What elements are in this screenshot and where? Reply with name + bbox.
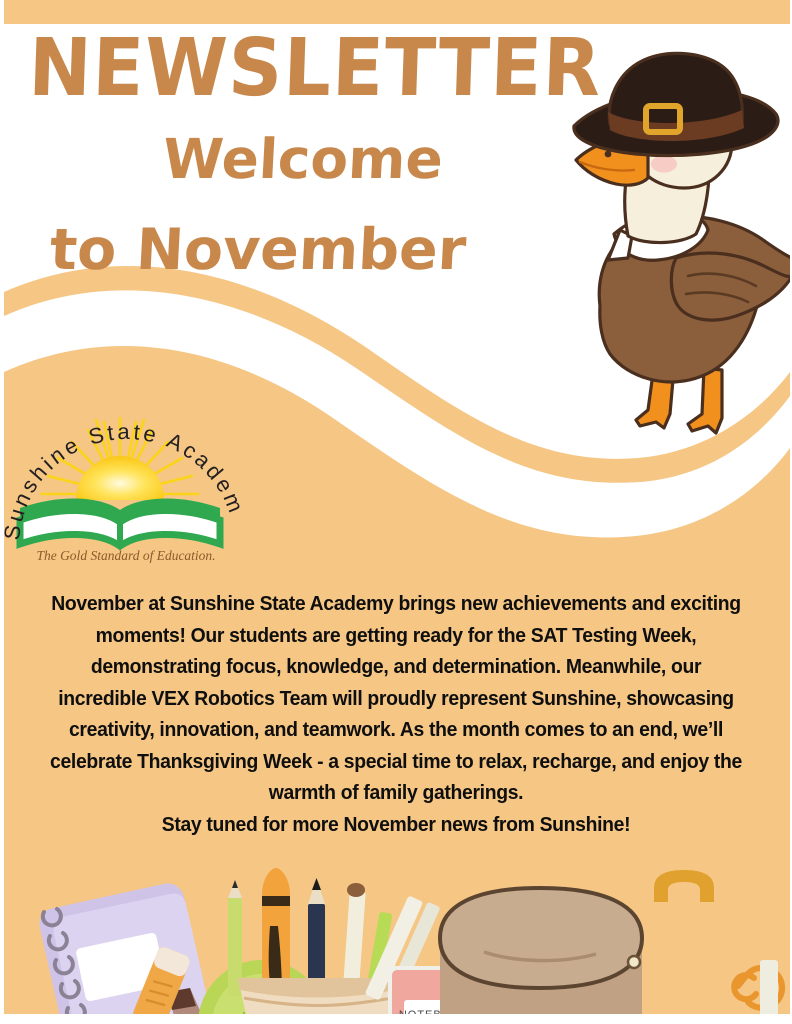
body-paragraph-1: November at Sunshine State Academy bring… xyxy=(48,588,744,809)
pilgrim-goose-illustration xyxy=(536,48,792,438)
newsletter-page: NEWSLETTER Welcome to November xyxy=(0,0,792,1024)
rising-sun xyxy=(76,456,164,500)
pencil-cup xyxy=(228,868,398,1024)
school-supplies-illustration: NOTEBOOK xyxy=(0,866,792,1024)
left-margin xyxy=(0,0,4,1024)
sunshine-state-academy-logo: Sunshine State Academy The Gold Standard… xyxy=(4,382,248,567)
top-accent-band xyxy=(4,0,792,24)
bottom-margin xyxy=(0,1014,792,1024)
newsletter-body: November at Sunshine State Academy bring… xyxy=(48,588,744,840)
logo-tagline: The Gold Standard of Education. xyxy=(36,548,215,563)
backpack xyxy=(440,870,714,1024)
body-paragraph-2: Stay tuned for more November news from S… xyxy=(48,809,744,841)
open-book xyxy=(20,498,220,546)
